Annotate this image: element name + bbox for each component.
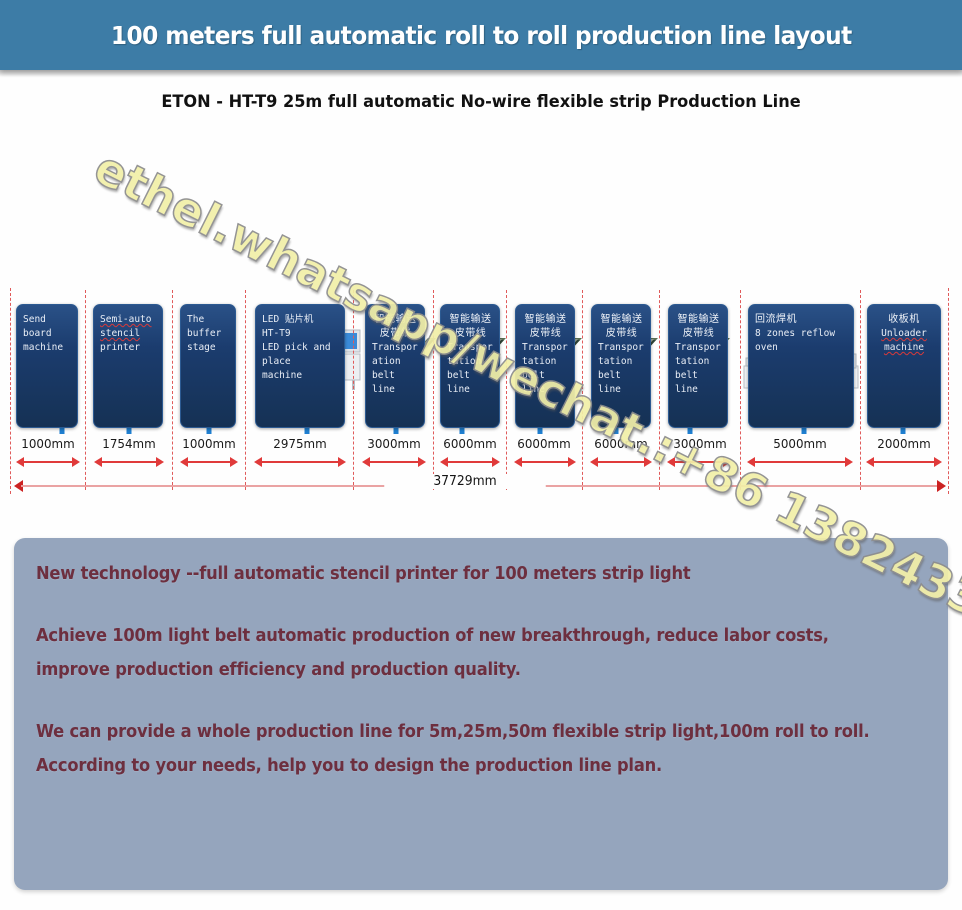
frame-edge-right bbox=[948, 288, 949, 494]
info-line: According to your needs, help you to des… bbox=[36, 756, 864, 776]
station-label-line: belt bbox=[675, 369, 722, 383]
station-label-line: HT-T9 bbox=[262, 327, 339, 341]
dimension-arrow bbox=[590, 456, 652, 468]
dimension-arrow bbox=[16, 456, 80, 468]
station-label-cn: 智能输送皮带线 bbox=[522, 313, 569, 341]
subtitle: ETON - HT-T9 25m full automatic No-wire … bbox=[24, 92, 938, 112]
production-line-diagram: Send board machine Semi-auto stencil pri… bbox=[0, 140, 962, 520]
station-label-cn: 智能输送皮带线 bbox=[372, 313, 419, 341]
station-label-line: 8 zones reflow bbox=[755, 327, 848, 341]
info-panel: New technology --full automatic stencil … bbox=[14, 538, 948, 890]
station-separator bbox=[353, 290, 354, 490]
info-line: improve production efficiency and produc… bbox=[36, 660, 864, 680]
frame-edge-left bbox=[10, 288, 11, 494]
station-box-unloader[interactable]: 收板机 Unloader machine bbox=[867, 304, 941, 428]
station-label-cn: 智能输送皮带线 bbox=[598, 313, 645, 341]
station-label-line: tation bbox=[675, 355, 722, 369]
dimension-label: 3000mm bbox=[662, 436, 738, 451]
dimension-label: 3000mm bbox=[356, 436, 432, 451]
station-box-pick-and-place[interactable]: LED 贴片机 HT-T9 LED pick and place machine bbox=[255, 304, 345, 428]
dimension-label: 5000mm bbox=[743, 436, 857, 451]
total-dimension-label: 37729mm bbox=[384, 474, 546, 489]
station-separator bbox=[85, 290, 86, 490]
dimension-arrow bbox=[866, 456, 942, 468]
dimension-arrow bbox=[514, 456, 576, 468]
station-separator bbox=[506, 290, 507, 490]
station-label-line: tation bbox=[522, 355, 569, 369]
station-separator bbox=[433, 290, 434, 490]
dimension-arrow bbox=[747, 456, 853, 468]
header-shadow-divider bbox=[0, 70, 962, 77]
dimension-label: 6000mm bbox=[436, 436, 504, 451]
station-label-line: printer bbox=[100, 341, 157, 355]
station-label-line: machine bbox=[23, 341, 72, 355]
station-box-conveyor-5[interactable]: 智能输送皮带线 Transpor tation belt line bbox=[668, 304, 728, 428]
station-label-line: line bbox=[675, 383, 722, 397]
page-title: 100 meters full automatic roll to roll p… bbox=[111, 21, 852, 50]
station-label-line: machine bbox=[262, 369, 339, 383]
dimension-label: 1000mm bbox=[12, 436, 84, 451]
slide-page: 100 meters full automatic roll to roll p… bbox=[0, 0, 962, 910]
station-separator bbox=[659, 290, 660, 490]
station-label-cn: 收板机 bbox=[872, 313, 936, 327]
station-label-line: belt bbox=[598, 369, 645, 383]
station-separator bbox=[740, 290, 741, 490]
station-label-line: belt bbox=[522, 369, 569, 383]
station-label-line: buffer bbox=[187, 327, 230, 341]
station-box-conveyor-4[interactable]: 智能输送皮带线 Transpor tation belt line bbox=[591, 304, 651, 428]
dimension-label: 1754mm bbox=[88, 436, 170, 451]
station-label-cn: 回流焊机 bbox=[755, 313, 848, 327]
header-bar: 100 meters full automatic roll to roll p… bbox=[0, 0, 962, 70]
station-separator bbox=[245, 290, 246, 490]
station-label-line: Transpor bbox=[598, 341, 645, 355]
station-label-line: tation bbox=[598, 355, 645, 369]
station-label-line: Semi-auto bbox=[100, 313, 157, 327]
station-label-line: machine bbox=[872, 341, 936, 355]
station-label-cn: 智能输送皮带线 bbox=[675, 313, 722, 341]
station-label-line: line bbox=[447, 383, 494, 397]
station-label-line: Transpor bbox=[447, 341, 494, 355]
dimension-arrow bbox=[94, 456, 164, 468]
station-label-line: Transpor bbox=[675, 341, 722, 355]
dimension-arrow bbox=[362, 456, 426, 468]
station-label-line: place bbox=[262, 355, 339, 369]
station-label-line: oven bbox=[755, 341, 848, 355]
station-label-line: line bbox=[522, 383, 569, 397]
station-separator bbox=[582, 290, 583, 490]
station-label-line: Transpor bbox=[372, 341, 419, 355]
station-box-conveyor-2[interactable]: 智能输送皮带线 Transpor tation belt line bbox=[440, 304, 500, 428]
dimension-arrow bbox=[440, 456, 500, 468]
station-label-line: stencil bbox=[100, 327, 157, 341]
station-label-line: LED pick and bbox=[262, 341, 339, 355]
dimension-label: 6000mm bbox=[508, 436, 580, 451]
station-label-line: Unloader bbox=[872, 327, 936, 341]
station-label-line: board bbox=[23, 327, 72, 341]
station-label-line: stage bbox=[187, 341, 230, 355]
station-label-line: Transpor bbox=[522, 341, 569, 355]
dimension-label: 2975mm bbox=[249, 436, 352, 451]
station-label-line: belt bbox=[372, 369, 419, 383]
station-label-cn: 智能输送皮带线 bbox=[447, 313, 494, 341]
station-label-line: tation bbox=[447, 355, 494, 369]
station-separator bbox=[172, 290, 173, 490]
station-box-stencil-printer[interactable]: Semi-auto stencil printer bbox=[93, 304, 163, 428]
station-box-conveyor-1[interactable]: 智能输送皮带线 Transpor ation belt line bbox=[365, 304, 425, 428]
station-label-line: line bbox=[372, 383, 419, 397]
dimension-label: 1000mm bbox=[174, 436, 244, 451]
info-line: Achieve 100m light belt automatic produc… bbox=[36, 626, 864, 646]
station-box-buffer-stage[interactable]: The buffer stage bbox=[180, 304, 236, 428]
dimension-arrow bbox=[254, 456, 346, 468]
station-label-line: line bbox=[598, 383, 645, 397]
info-line: We can provide a whole production line f… bbox=[36, 722, 864, 742]
dimension-arrow bbox=[180, 456, 238, 468]
station-box-conveyor-3[interactable]: 智能输送皮带线 Transpor tation belt line bbox=[515, 304, 575, 428]
station-box-reflow-oven[interactable]: 回流焊机 8 zones reflow oven bbox=[748, 304, 854, 428]
station-separator bbox=[860, 290, 861, 490]
station-label-line: belt bbox=[447, 369, 494, 383]
station-label-line: Send bbox=[23, 313, 72, 327]
station-box-send-board[interactable]: Send board machine bbox=[16, 304, 78, 428]
dimension-label: 6000mm bbox=[584, 436, 658, 451]
dimension-arrow bbox=[667, 456, 731, 468]
dimension-label: 2000mm bbox=[862, 436, 946, 451]
station-label-line: ation bbox=[372, 355, 419, 369]
station-label-line: The bbox=[187, 313, 230, 327]
info-line: New technology --full automatic stencil … bbox=[36, 564, 864, 584]
station-label-cn: LED 贴片机 bbox=[262, 313, 339, 327]
